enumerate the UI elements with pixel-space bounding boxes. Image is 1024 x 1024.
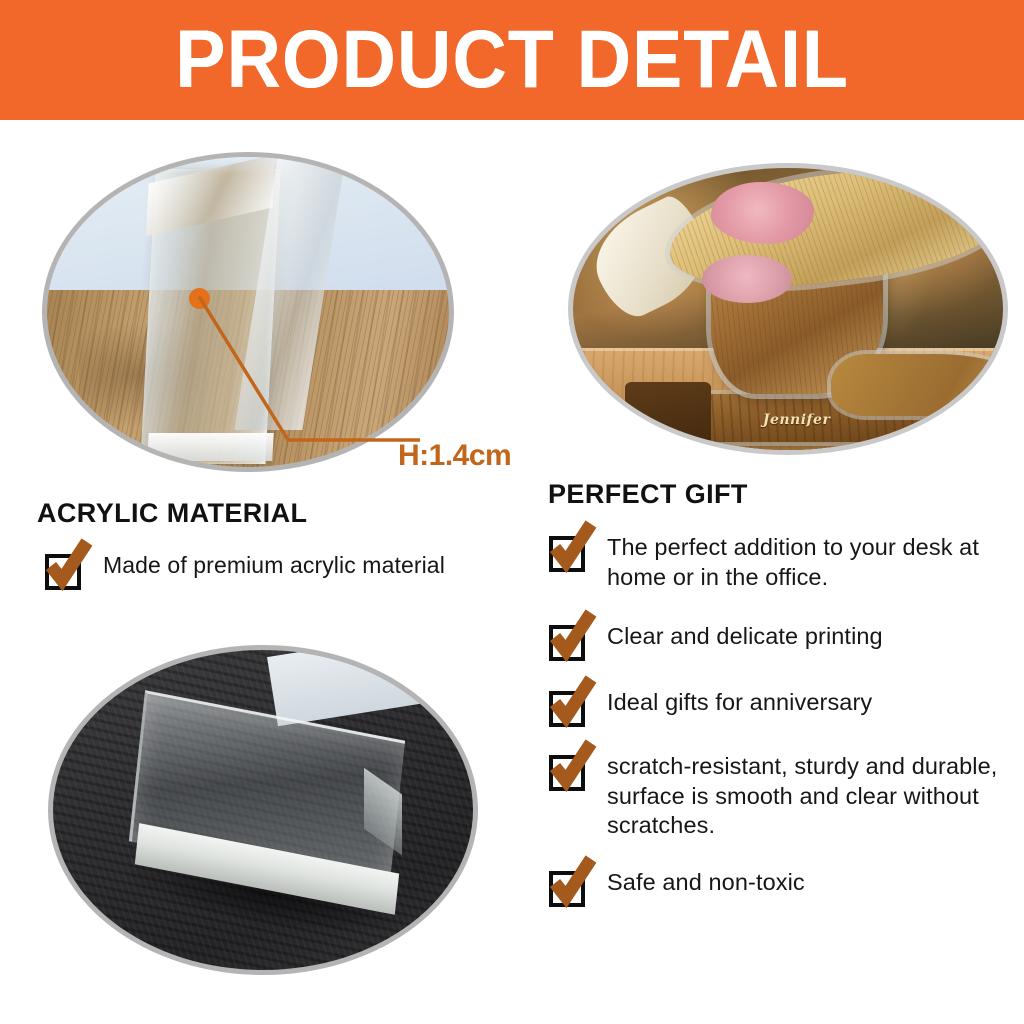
header-bar: PRODUCT DETAIL bbox=[0, 0, 1024, 120]
list-item: Made of premium acrylic material bbox=[45, 546, 525, 588]
callout-dot-icon bbox=[189, 288, 210, 309]
list-item-label: scratch-resistant, sturdy and durable, s… bbox=[607, 747, 1004, 841]
acrylic-block-scene bbox=[53, 650, 473, 970]
list-item-label: The perfect addition to your desk at hom… bbox=[607, 528, 1004, 592]
list-item: Safe and non-toxic bbox=[549, 863, 1004, 905]
feature-list-perfect-gift: The perfect addition to your desk at hom… bbox=[549, 528, 1004, 927]
acrylic-base-edge bbox=[147, 433, 273, 461]
list-item: The perfect addition to your desk at hom… bbox=[549, 528, 1004, 592]
page-title: PRODUCT DETAIL bbox=[175, 19, 849, 101]
list-item: Clear and delicate printing bbox=[549, 617, 1004, 659]
product-photo: Jennifer bbox=[568, 163, 1008, 455]
checkmark-icon bbox=[549, 685, 587, 725]
section-heading-perfect-gift: PERFECT GIFT bbox=[548, 479, 748, 510]
list-item-label: Made of premium acrylic material bbox=[103, 546, 445, 580]
acrylic-edge-photo bbox=[42, 152, 454, 472]
pink-flower-top bbox=[711, 182, 814, 244]
list-item: Ideal gifts for anniversary bbox=[549, 683, 1004, 725]
check-glyph bbox=[547, 522, 595, 574]
check-glyph bbox=[547, 677, 595, 729]
acrylic-edge-scene bbox=[47, 157, 449, 467]
checkmark-icon bbox=[549, 530, 587, 570]
check-glyph bbox=[43, 540, 91, 592]
list-item: scratch-resistant, sturdy and durable, s… bbox=[549, 747, 1004, 841]
product-scene: Jennifer bbox=[573, 168, 1003, 450]
list-item-label: Ideal gifts for anniversary bbox=[607, 683, 872, 718]
check-glyph bbox=[547, 741, 595, 793]
acrylic-block-photo bbox=[48, 645, 478, 975]
check-glyph bbox=[547, 857, 595, 909]
checkmark-icon bbox=[549, 865, 587, 905]
checkmark-icon bbox=[549, 619, 587, 659]
checkmark-icon bbox=[549, 749, 587, 789]
dimension-label: H:1.4cm bbox=[398, 439, 511, 473]
list-item-label: Safe and non-toxic bbox=[607, 863, 805, 898]
section-heading-acrylic-material: ACRYLIC MATERIAL bbox=[37, 498, 307, 529]
checkmark-icon bbox=[45, 548, 83, 588]
boot-heel bbox=[625, 382, 711, 450]
list-item-label: Clear and delicate printing bbox=[607, 617, 883, 652]
feature-list-acrylic-material: Made of premium acrylic material bbox=[45, 546, 525, 610]
check-glyph bbox=[547, 611, 595, 663]
boot-toe bbox=[831, 354, 1008, 416]
